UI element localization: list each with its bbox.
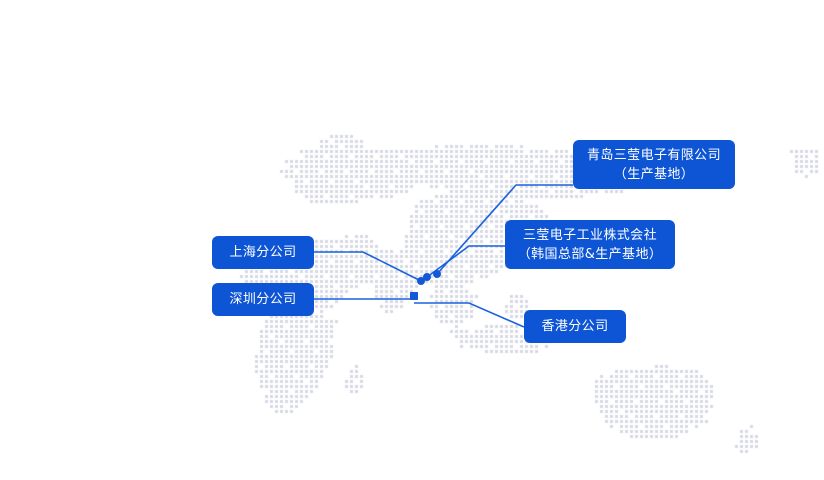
- label-shanghai-branch[interactable]: 上海分公司: [212, 236, 314, 269]
- connector-lines: [0, 0, 824, 480]
- label-hongkong-branch[interactable]: 香港分公司: [524, 310, 626, 343]
- label-korea-hq[interactable]: 三莹电子工业株式会社 （韩国总部&生产基地）: [505, 220, 675, 269]
- connector-hongkong: [414, 303, 524, 327]
- map-marker-qingdao[interactable]: [433, 270, 441, 278]
- label-line-1: 上海分公司: [229, 243, 296, 262]
- label-shenzhen-branch[interactable]: 深圳分公司: [212, 283, 314, 316]
- label-line-2: （生产基地）: [614, 165, 694, 184]
- label-qingdao[interactable]: 青岛三莹电子有限公司 （生产基地）: [573, 140, 735, 189]
- label-line-1: 深圳分公司: [229, 290, 296, 309]
- world-map-infographic: 青岛三莹电子有限公司 （生产基地） 三莹电子工业株式会社 （韩国总部&生产基地）…: [0, 0, 824, 480]
- label-line-2: （韩国总部&生产基地）: [518, 245, 663, 264]
- label-line-1: 青岛三莹电子有限公司: [587, 146, 721, 165]
- connector-shanghai: [314, 252, 421, 281]
- label-line-1: 香港分公司: [541, 317, 608, 336]
- map-marker-shanghai[interactable]: [417, 277, 425, 285]
- label-line-1: 三莹电子工业株式会社: [523, 226, 657, 245]
- map-marker-hongkong[interactable]: [410, 292, 418, 300]
